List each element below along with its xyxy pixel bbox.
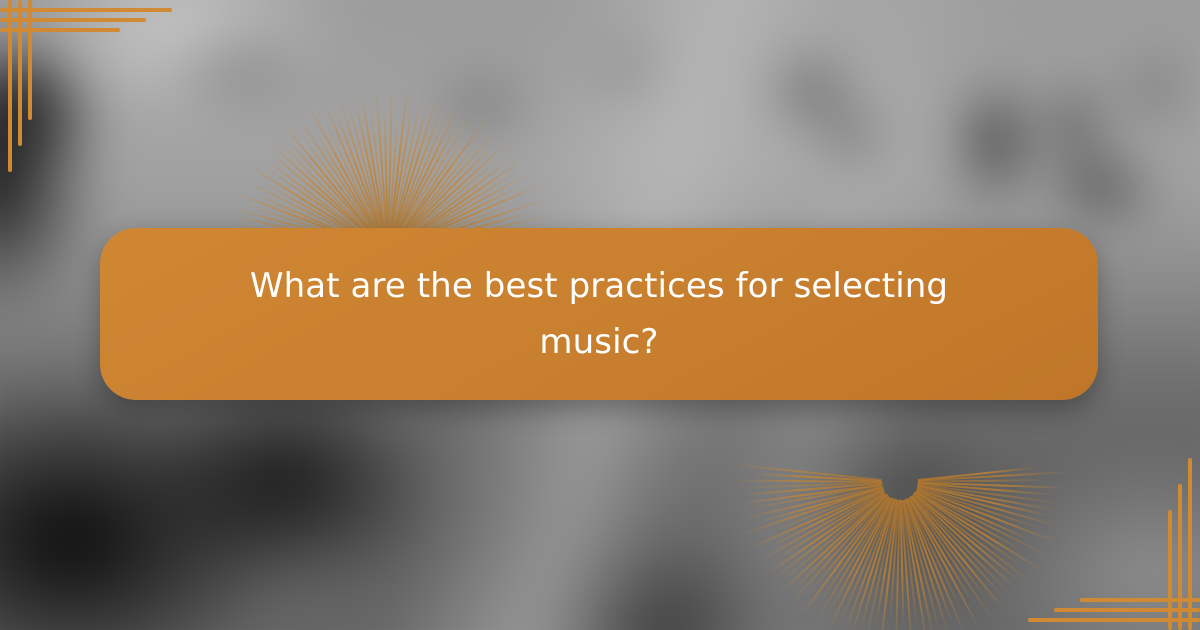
slide-canvas: What are the best practices for selectin…: [0, 0, 1200, 630]
question-text: What are the best practices for selectin…: [219, 258, 979, 370]
corner-line-vertical: [18, 0, 22, 146]
corner-line-vertical: [28, 0, 32, 120]
corner-line-vertical: [8, 0, 12, 172]
corner-line-vertical: [1178, 484, 1182, 630]
corner-bracket-bottom-right: [1010, 440, 1200, 630]
corner-line-horizontal: [0, 8, 172, 12]
question-card: What are the best practices for selectin…: [100, 228, 1098, 400]
corner-bracket-top-left: [0, 0, 190, 190]
corner-line-horizontal: [1028, 618, 1200, 622]
corner-line-vertical: [1188, 458, 1192, 630]
corner-line-horizontal: [1080, 598, 1200, 602]
corner-line-vertical: [1168, 510, 1172, 630]
